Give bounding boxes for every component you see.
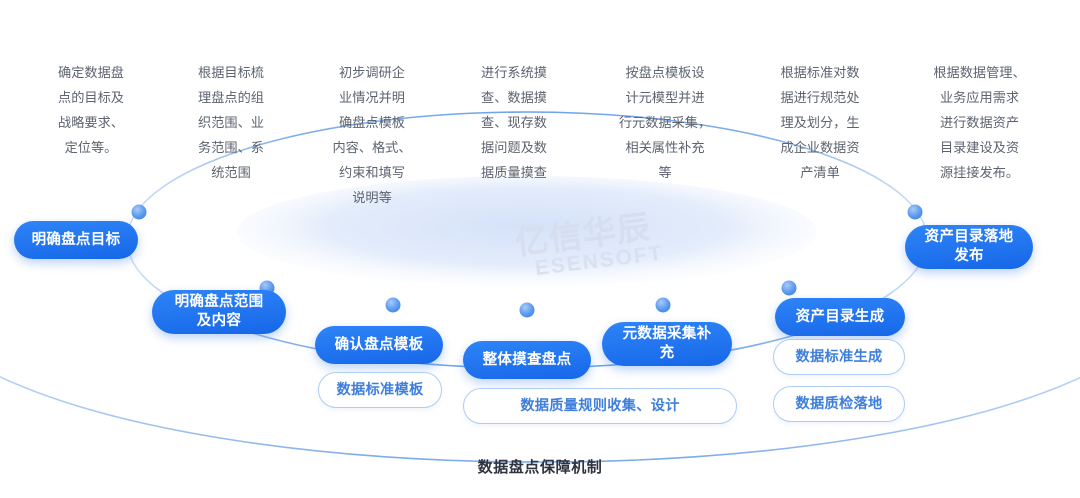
stage-description-3: 初步调研企 业情况并明 确盘点模板 内容、格式、 约束和填写 说明等	[313, 60, 431, 210]
subitem-pill-quality-rules[interactable]: 数据质量规则收集、设计	[463, 388, 737, 424]
stage-pill-confirm-template[interactable]: 确认盘点模板	[315, 326, 443, 364]
stage-pill-define-goal[interactable]: 明确盘点目标	[14, 221, 138, 259]
stage-description-2: 根据目标梳 理盘点的组 织范围、业 务范围、系 统范围	[172, 60, 290, 185]
stage-description-7: 根据数据管理、 业务应用需求 进行数据资产 目录建设及资 源挂接发布。	[912, 60, 1047, 185]
diagram-canvas: 亿信华辰 ESENSOFT 确定数据盘 点的目标及 战略要求、 定位等。 根据目…	[0, 0, 1080, 498]
stage-description-4: 进行系统摸 查、数据摸 查、现存数 据问题及数 据质量摸查	[455, 60, 573, 185]
subitem-pill-quality-inspection[interactable]: 数据质检落地	[773, 386, 905, 422]
stage-description-1: 确定数据盘 点的目标及 战略要求、 定位等。	[32, 60, 150, 160]
stage-description-6: 根据标准对数 据进行规范处 理及划分，生 成企业数据资 产清单	[755, 60, 885, 185]
stage-pill-asset-catalog-generation[interactable]: 资产目录生成	[775, 298, 905, 336]
bottom-caption: 数据盘点保障机制	[0, 456, 1080, 477]
subitem-pill-data-standard-template[interactable]: 数据标准模板	[318, 372, 442, 408]
stage-pill-define-scope[interactable]: 明确盘点范围 及内容	[152, 290, 286, 334]
stage-description-5: 按盘点模板设 计元模型并进 行元数据采集， 相关属性补充 等	[600, 60, 730, 185]
subitem-pill-data-standard-generation[interactable]: 数据标准生成	[773, 339, 905, 375]
stage-pill-overall-survey[interactable]: 整体摸查盘点	[463, 341, 591, 379]
stage-pill-metadata-collection[interactable]: 元数据采集补 充	[602, 322, 732, 366]
stage-pill-catalog-publish[interactable]: 资产目录落地 发布	[905, 225, 1033, 269]
